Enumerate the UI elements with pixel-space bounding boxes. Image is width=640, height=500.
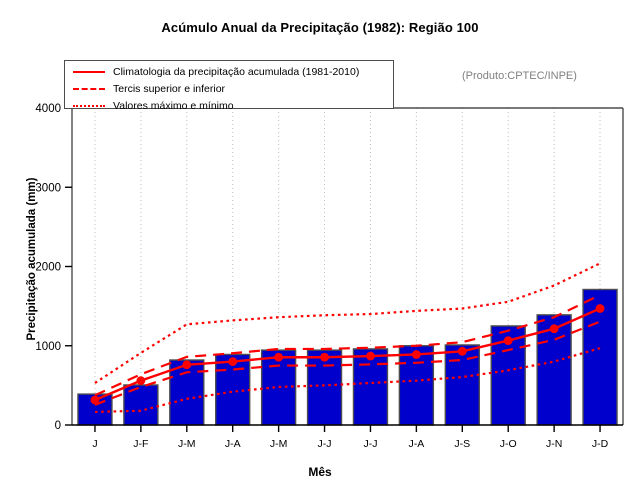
x-tick-label: J xyxy=(92,438,97,450)
series-marker xyxy=(228,357,237,366)
series-marker xyxy=(596,304,605,313)
legend-item-tercis: Tercis superior e inferior xyxy=(73,82,393,97)
series-marker xyxy=(136,376,145,385)
series-marker xyxy=(504,336,513,345)
series-marker xyxy=(320,353,329,362)
y-tick-label: 1000 xyxy=(35,341,61,353)
chart-legend: Climatologia da precipitação acumulada (… xyxy=(64,60,394,109)
y-tick-label: 4000 xyxy=(35,103,61,115)
x-tick-label: J-J xyxy=(363,438,377,450)
x-tick-label: J-M xyxy=(270,438,288,450)
legend-key-dotted-icon xyxy=(73,105,105,107)
series-marker xyxy=(412,350,421,359)
legend-key-solid-icon xyxy=(73,71,105,73)
legend-label: Climatologia da precipitação acumulada (… xyxy=(113,65,359,79)
x-tick-label: J-S xyxy=(454,438,470,450)
series-marker xyxy=(550,324,559,333)
legend-label: Tercis superior e inferior xyxy=(113,82,225,96)
series-marker xyxy=(274,353,283,362)
y-tick-label: 3000 xyxy=(35,182,61,194)
y-tick-label: 0 xyxy=(55,420,61,432)
x-tick-label: J-N xyxy=(546,438,562,450)
x-tick-label: J-A xyxy=(409,438,425,450)
x-tick-label: J-F xyxy=(133,438,148,450)
legend-label: Valores máximo e mínimo xyxy=(113,99,234,113)
x-tick-label: J-O xyxy=(500,438,517,450)
legend-key-dashed-icon xyxy=(73,88,105,90)
legend-item-climatologia: Climatologia da precipitação acumulada (… xyxy=(73,65,393,80)
x-tick-label: J-A xyxy=(225,438,241,450)
series-marker xyxy=(182,360,191,369)
y-tick-label: 2000 xyxy=(35,262,61,274)
x-tick-label: J-D xyxy=(592,438,609,450)
legend-item-extremos: Valores máximo e mínimo xyxy=(73,99,393,114)
series-marker xyxy=(458,347,467,356)
chart-figure: Acúmulo Anual da Precipitação (1982): Re… xyxy=(0,0,640,500)
x-tick-label: J-J xyxy=(318,438,332,450)
series-marker xyxy=(366,352,375,361)
x-tick-label: J-M xyxy=(178,438,196,450)
